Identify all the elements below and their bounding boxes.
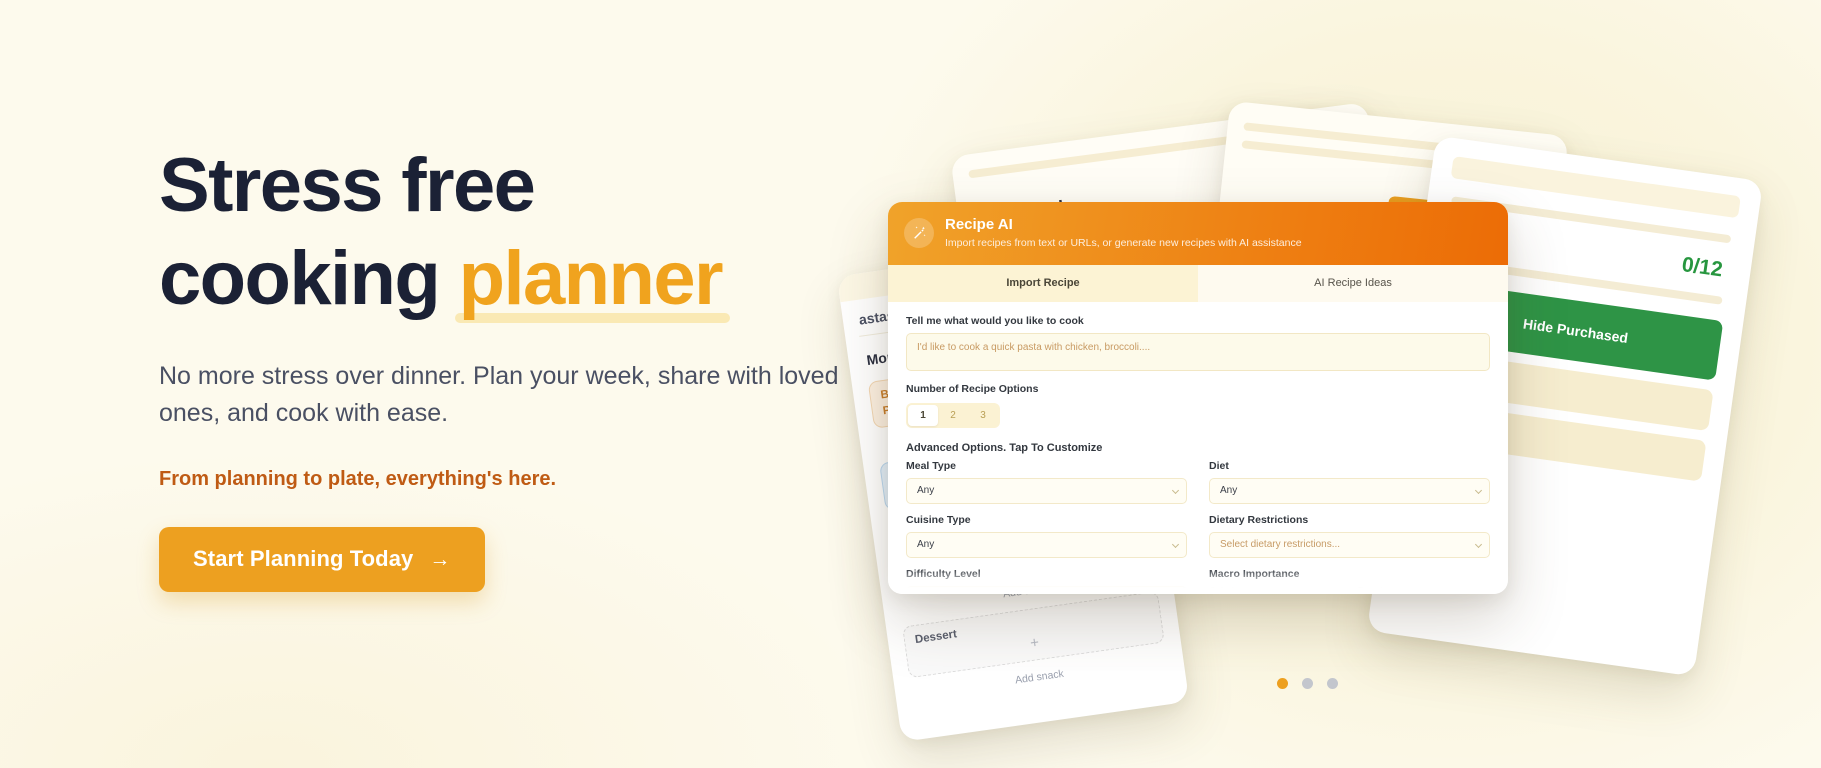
hero-copy: Stress free cooking planner No more stre… <box>159 140 899 592</box>
carousel-dots <box>1277 678 1338 689</box>
recipe-prompt-input[interactable]: I'd like to cook a quick pasta with chic… <box>906 333 1490 371</box>
difficulty-level-value: Any <box>917 593 934 594</box>
meal-type-label: Meal Type <box>906 460 1187 472</box>
headline-line-1: Stress free <box>159 140 899 233</box>
option-2[interactable]: 2 <box>938 405 968 426</box>
advanced-right-column: Diet Any Dietary Restrictions Select die… <box>1209 460 1490 594</box>
field-difficulty-level: Difficulty Level Any <box>906 568 1187 594</box>
carousel-dot-1[interactable] <box>1277 678 1288 689</box>
advanced-options-toggle[interactable]: Advanced Options. Tap To Customize <box>906 442 1490 454</box>
recipe-ai-header-text: Recipe AI Import recipes from text or UR… <box>945 216 1302 250</box>
arrow-right-icon: → <box>429 549 450 570</box>
meal-type-value: Any <box>917 485 934 496</box>
screenshot-card-stack: Shopping L Next Week Ne 0/12 Hide Purcha… <box>880 96 1780 746</box>
hero-section: Stress free cooking planner No more stre… <box>0 0 1821 768</box>
diet-label: Diet <box>1209 460 1490 472</box>
start-planning-button[interactable]: Start Planning Today → <box>159 527 485 592</box>
recipe-ai-tabs: Import Recipe AI Recipe Ideas <box>888 265 1508 302</box>
cuisine-type-select[interactable]: Any <box>906 532 1187 558</box>
recipe-ai-header: Recipe AI Import recipes from text or UR… <box>888 202 1508 265</box>
dietary-restrictions-label: Dietary Restrictions <box>1209 514 1490 526</box>
recipe-ai-subtitle: Import recipes from text or URLs, or gen… <box>945 237 1302 250</box>
advanced-left-column: Meal Type Any Cuisine Type Any <box>906 460 1187 594</box>
dietary-restrictions-value: Select dietary restrictions... <box>1220 539 1340 550</box>
diet-select[interactable]: Any <box>1209 478 1490 504</box>
recipe-options-stepper[interactable]: 1 2 3 <box>906 403 1000 428</box>
recipe-ai-card[interactable]: Recipe AI Import recipes from text or UR… <box>888 202 1508 594</box>
cta-label: Start Planning Today <box>193 546 413 572</box>
prompt-label: Tell me what would you like to cook <box>906 315 1490 327</box>
cuisine-type-value: Any <box>917 539 934 550</box>
dietary-restrictions-select[interactable]: Select dietary restrictions... <box>1209 532 1490 558</box>
headline-accent: planner <box>459 233 722 326</box>
cuisine-type-label: Cuisine Type <box>906 514 1187 526</box>
headline-line-2: cooking planner <box>159 233 899 326</box>
recipe-options-label: Number of Recipe Options <box>906 383 1490 395</box>
macro-calories-label: Calories <box>1209 586 1342 594</box>
diet-value: Any <box>1220 485 1237 496</box>
field-diet: Diet Any <box>1209 460 1490 504</box>
page-title: Stress free cooking planner <box>159 140 899 325</box>
macro-protein-label: Protein <box>1358 586 1491 594</box>
tab-ai-recipe-ideas[interactable]: AI Recipe Ideas <box>1198 265 1508 302</box>
recipe-ai-body: Tell me what would you like to cook I'd … <box>888 302 1508 594</box>
carousel-dot-3[interactable] <box>1327 678 1338 689</box>
difficulty-level-select[interactable]: Any <box>906 586 1187 594</box>
magic-wand-icon <box>904 218 934 248</box>
headline-prefix: cooking <box>159 236 459 321</box>
chevron-down-icon <box>1172 541 1179 548</box>
meal-type-select[interactable]: Any <box>906 478 1187 504</box>
field-meal-type: Meal Type Any <box>906 460 1187 504</box>
option-1[interactable]: 1 <box>908 405 938 426</box>
chevron-down-icon <box>1475 487 1482 494</box>
hero-subheading: No more stress over dinner. Plan your we… <box>159 358 871 431</box>
option-3[interactable]: 3 <box>968 405 998 426</box>
chevron-down-icon <box>1172 487 1179 494</box>
macro-calories: Calories Min Neutral Max <box>1209 586 1342 594</box>
tab-import-recipe[interactable]: Import Recipe <box>888 265 1198 302</box>
recipe-ai-title: Recipe AI <box>945 216 1302 234</box>
carousel-dot-2[interactable] <box>1302 678 1313 689</box>
advanced-options-grid: Meal Type Any Cuisine Type Any <box>906 460 1490 594</box>
hero-tagline: From planning to plate, everything's her… <box>159 468 899 491</box>
difficulty-level-label: Difficulty Level <box>906 568 1187 580</box>
macro-importance-label: Macro Importance <box>1209 568 1490 580</box>
chevron-down-icon <box>1475 541 1482 548</box>
field-dietary-restrictions: Dietary Restrictions Select dietary rest… <box>1209 514 1490 558</box>
field-cuisine-type: Cuisine Type Any <box>906 514 1187 558</box>
macro-importance-group: Calories Min Neutral Max Protein <box>1209 586 1490 594</box>
macro-protein: Protein Min Neutral Max <box>1358 586 1491 594</box>
